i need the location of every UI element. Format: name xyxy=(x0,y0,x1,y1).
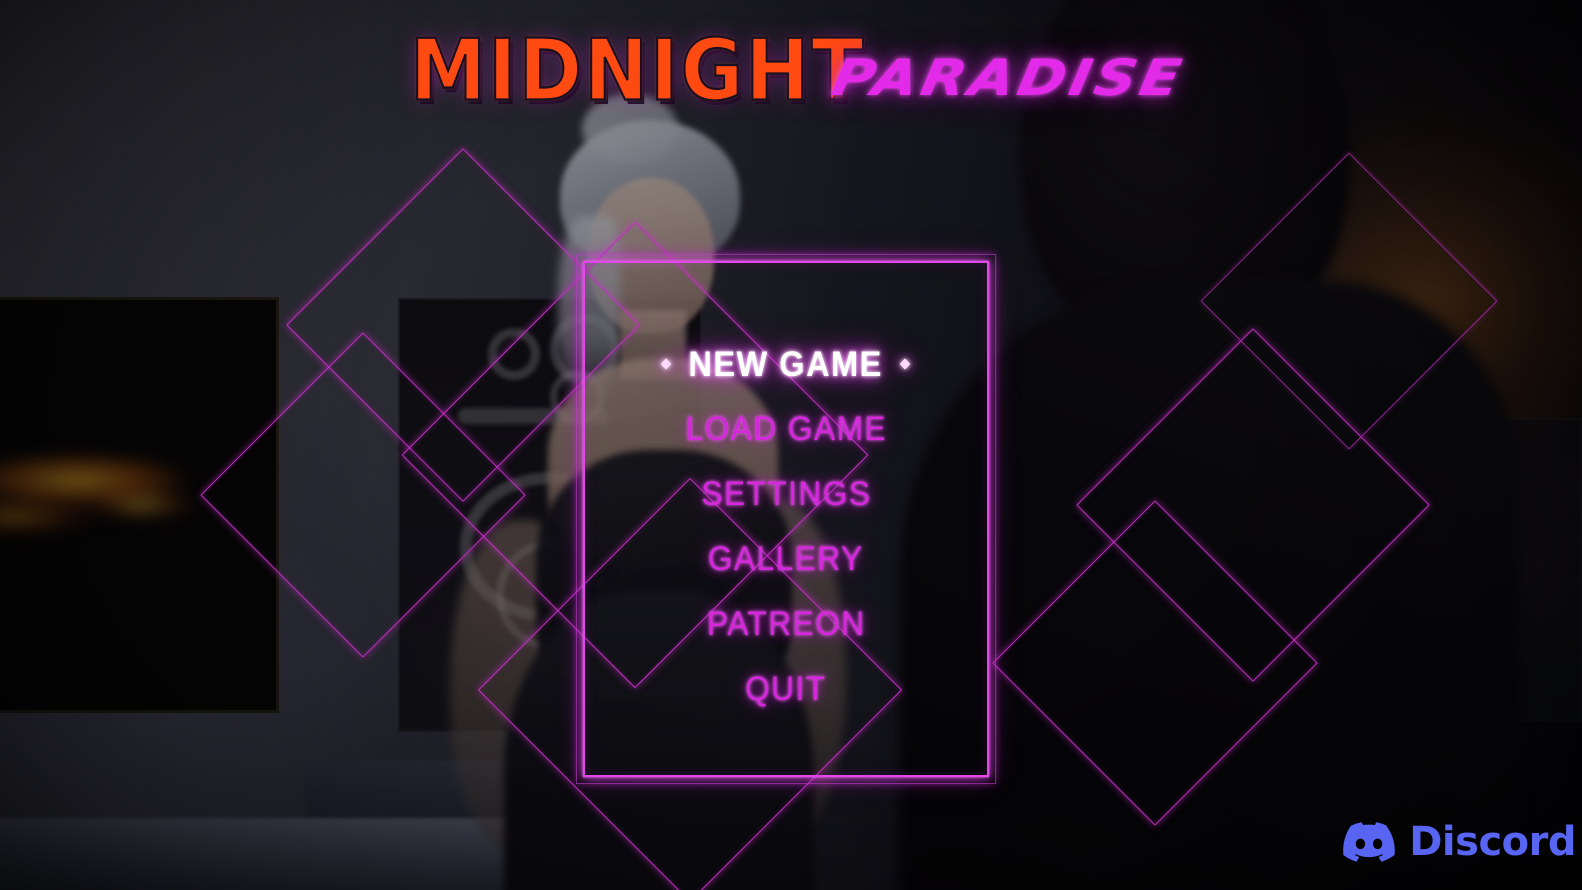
game-main-menu-screen: MIDNIGHT PARADISE NEW GAMELOAD GAMESETTI… xyxy=(0,0,1582,890)
menu-item-label: PATREON xyxy=(707,605,866,643)
menu-item-settings[interactable]: SETTINGS xyxy=(701,477,871,511)
menu-item-new-game[interactable]: NEW GAME xyxy=(689,347,884,381)
menu-item-load-game[interactable]: LOAD GAME xyxy=(685,412,886,446)
game-title-main: MIDNIGHT xyxy=(410,30,866,112)
menu-item-label: SETTINGS xyxy=(701,475,871,513)
menu-item-patreon[interactable]: PATREON xyxy=(707,607,866,641)
diamond-bullet-right-icon xyxy=(900,358,911,369)
menu-item-gallery[interactable]: GALLERY xyxy=(708,542,864,576)
menu-item-label: NEW GAME xyxy=(689,345,884,384)
menu-item-label: QUIT xyxy=(745,670,826,708)
game-logo: MIDNIGHT PARADISE xyxy=(0,36,1582,107)
menu-item-label: LOAD GAME xyxy=(685,410,886,448)
game-title-subtitle: PARADISE xyxy=(827,49,1189,107)
menu-item-quit[interactable]: QUIT xyxy=(745,672,826,706)
discord-label: Discord xyxy=(1409,822,1576,862)
discord-link[interactable]: Discord xyxy=(1343,822,1582,862)
discord-logo-icon xyxy=(1343,822,1395,862)
menu-item-label: GALLERY xyxy=(708,540,864,578)
main-menu-list: NEW GAMELOAD GAMESETTINGSGALLERYPATREONQ… xyxy=(583,261,989,777)
diamond-bullet-left-icon xyxy=(661,358,672,369)
